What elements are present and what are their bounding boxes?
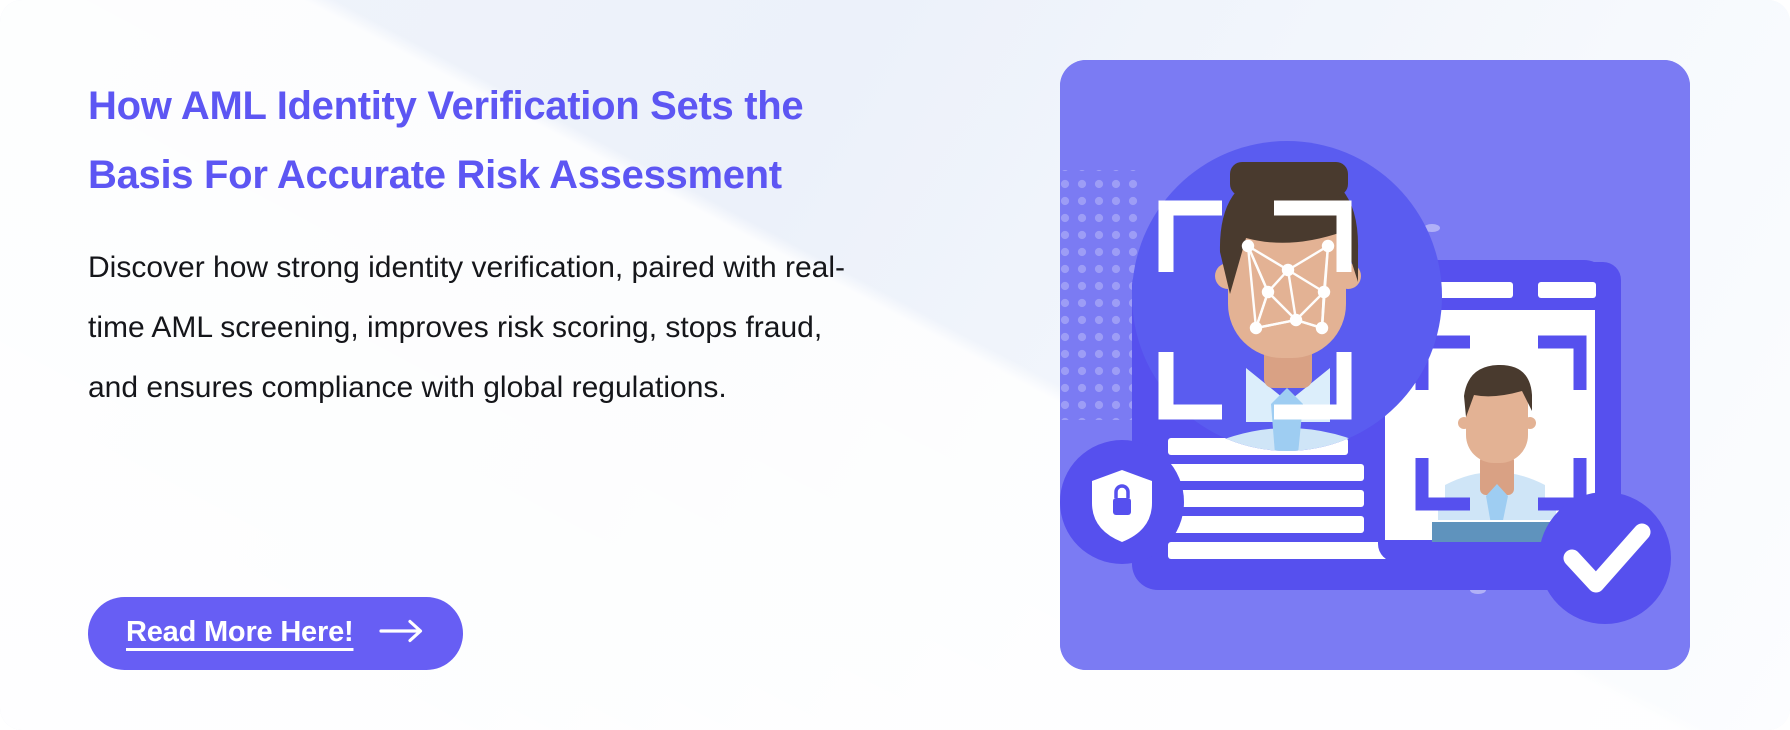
- promo-banner: How AML Identity Verification Sets the B…: [0, 0, 1790, 730]
- identity-verification-illustration: [1060, 60, 1690, 670]
- read-more-label: Read More Here!: [126, 616, 353, 649]
- lock-shield-badge: [1060, 440, 1184, 564]
- banner-description: Discover how strong identity verificatio…: [88, 238, 878, 418]
- check-badge: [1539, 492, 1671, 624]
- banner-text-column: How AML Identity Verification Sets the B…: [88, 72, 888, 418]
- page-title: How AML Identity Verification Sets the B…: [88, 72, 888, 210]
- dot-grid-pattern: [1060, 170, 1142, 420]
- arrow-right-icon: [379, 618, 425, 647]
- read-more-button[interactable]: Read More Here!: [88, 597, 463, 670]
